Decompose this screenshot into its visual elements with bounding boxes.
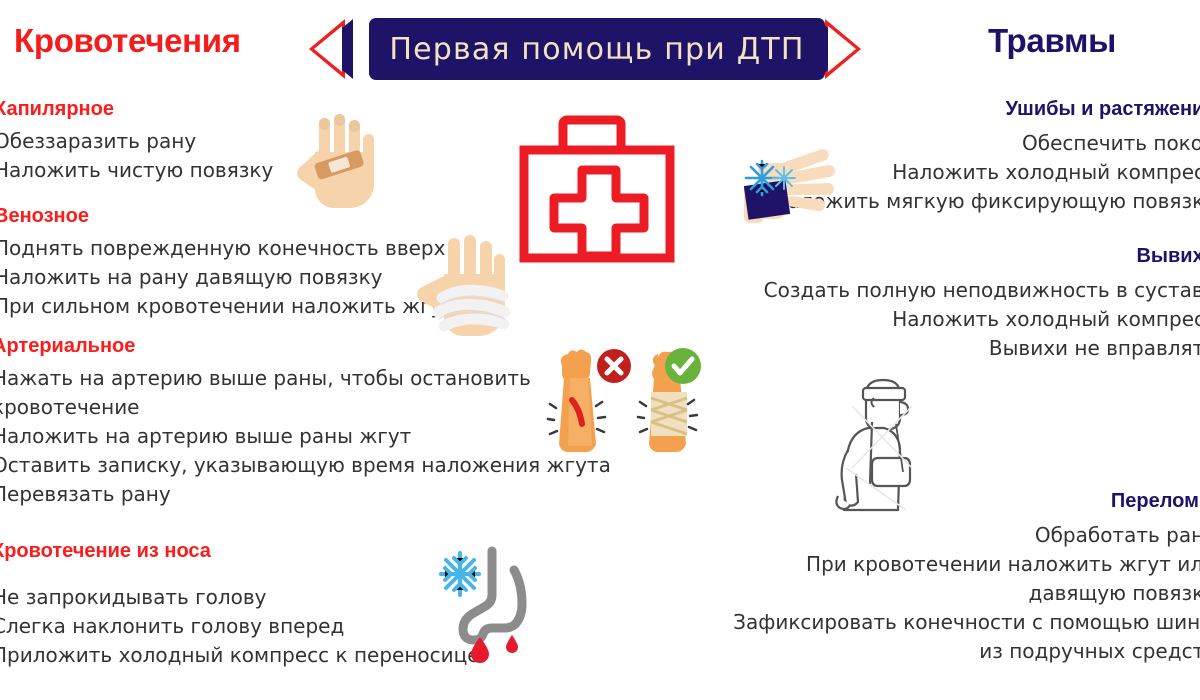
right-arrow-inner-cut-icon xyxy=(828,26,856,72)
section-line: Слегка наклонить голову вперед xyxy=(0,612,480,641)
section-line: Наложить на рану давящую повязку xyxy=(0,263,454,292)
cold-compress-hand-icon xyxy=(740,135,850,235)
page-title-left: Кровотечения xyxy=(14,22,241,60)
section-line: Обеззаразить рану xyxy=(0,127,273,156)
banner-title-text: Первая помощь при ДТП xyxy=(389,32,804,67)
infographic-canvas: Кровотечения Первая помощь при ДТП Травм… xyxy=(0,0,1200,700)
section-line: Создать полную неподвижность в суставе xyxy=(764,276,1200,305)
person-with-arm-sling-icon xyxy=(808,372,928,512)
title-banner-group: Первая помощь при ДТП xyxy=(305,16,865,86)
section-title-bruises-sprains: Ушибы и растяжения xyxy=(773,98,1200,121)
section-line: давящую повязку xyxy=(733,579,1200,608)
section-title-capillary: Капилярное xyxy=(0,98,273,121)
section-arterial: Артериальное Нажать на артерию выше раны… xyxy=(0,335,611,509)
section-line: При сильном кровотечении наложить жгут xyxy=(0,292,454,321)
section-line: Не запрокидывать голову xyxy=(0,583,480,612)
left-arrow-inner-cut-icon xyxy=(314,26,342,72)
section-line: Обработать рану xyxy=(733,521,1200,550)
section-line: кровотечение xyxy=(0,393,611,422)
section-title-fractures: Переломы xyxy=(733,490,1200,513)
title-banner: Первая помощь при ДТП xyxy=(369,18,825,80)
section-line: Нажать на артерию выше раны, чтобы остан… xyxy=(0,364,611,393)
section-line: Наложить на артерию выше раны жгут xyxy=(0,422,611,451)
green-check-mark-icon xyxy=(664,347,702,385)
bandaged-hand-icon xyxy=(408,234,513,342)
section-venous: Венозное Поднять поврежденную конечность… xyxy=(0,205,454,321)
red-cross-mark-icon xyxy=(596,348,632,384)
section-title-arterial: Артериальное xyxy=(0,335,611,358)
section-line: Наложить холодный компресс xyxy=(764,305,1200,334)
section-line: При кровотечении наложить жгут или xyxy=(733,550,1200,579)
section-capillary: Капилярное Обеззаразить рану Наложить чи… xyxy=(0,98,273,185)
section-dislocations: Вывихи Создать полную неподвижность в су… xyxy=(764,245,1200,363)
bleeding-nose-icon xyxy=(432,545,547,665)
section-title-nosebleed: Кровотечение из носа xyxy=(0,540,480,563)
section-title-venous: Венозное xyxy=(0,205,454,228)
section-title-dislocations: Вывихи xyxy=(764,245,1200,268)
section-line: Поднять поврежденную конечность вверх xyxy=(0,234,454,263)
section-line: Оставить записку, указывающую время нало… xyxy=(0,451,611,480)
section-line: Зафиксировать конечности с помощью шины xyxy=(733,608,1200,637)
first-aid-kit-icon xyxy=(516,112,686,267)
section-line: из подручных средств xyxy=(733,637,1200,666)
section-fractures: Переломы Обработать рану При кровотечени… xyxy=(733,490,1200,666)
section-line: Наложить чистую повязку xyxy=(0,156,273,185)
section-nosebleed: Кровотечение из носа Не запрокидывать го… xyxy=(0,540,480,670)
page-title-right: Травмы xyxy=(988,22,1116,60)
section-line: Приложить холодный компресс к переносице xyxy=(0,641,480,670)
section-line: Вывихи не вправлять xyxy=(764,334,1200,363)
hand-with-plaster-icon xyxy=(285,112,385,217)
section-line: Перевязать рану xyxy=(0,480,611,509)
